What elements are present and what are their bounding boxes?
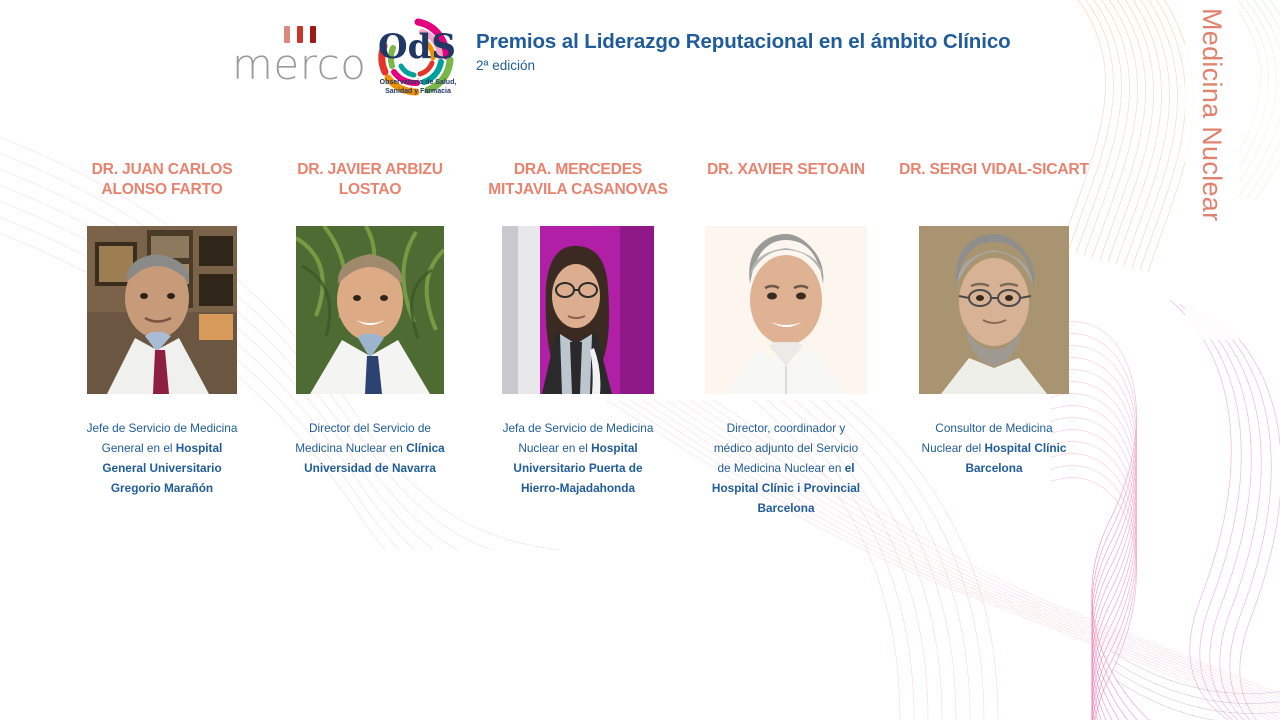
awardees-row: DR. JUAN CARLOS ALONSO FARTO (58, 160, 1098, 518)
awardee-name: DRA. MERCEDES MITJAVILA CASANOVAS (474, 160, 682, 206)
section-label: Medicina Nuclear (1188, 8, 1236, 328)
awardee-photo (296, 226, 444, 394)
awardee-name: DR. SERGI VIDAL-SICART (890, 160, 1098, 206)
awardee-role: Director del Servicio de Medicina Nuclea… (294, 418, 446, 478)
awardee-photo (502, 226, 654, 394)
awardee-card: DR. JUAN CARLOS ALONSO FARTO (58, 160, 266, 498)
merco-logo: merco (232, 26, 358, 84)
awardee-role: Jefe de Servicio de Medicina General en … (86, 418, 238, 498)
awardee-card: DR. JAVIER ARBIZU LOSTAO (266, 160, 474, 478)
awardee-role: Jefa de Servicio de Medicina Nuclear en … (502, 418, 654, 498)
awardee-role: Consultor de Medicina Nuclear del Hospit… (918, 418, 1070, 478)
page-subtitle: 2ª edición (476, 58, 1011, 73)
awardee-name: DR. JUAN CARLOS ALONSO FARTO (58, 160, 266, 206)
awardee-photo (705, 226, 867, 394)
awardee-card: DR. XAVIER SETOAIN Di (682, 160, 890, 518)
page-title: Premios al Liderazgo Reputacional en el … (476, 30, 1011, 54)
slide-header: merco OdS Observatorio de Salud, Sanidad… (0, 0, 1160, 110)
svg-text:OdS: OdS (378, 27, 456, 67)
awardee-role: Director, coordinador y médico adjunto d… (710, 418, 862, 518)
role-plain: Director, coordinador y médico adjunto d… (714, 421, 858, 475)
awardee-card: DRA. MERCEDES MITJAVILA CASANOVAS (474, 160, 682, 498)
ods-tagline: Observatorio de Salud, Sanidad y Farmaci… (366, 78, 470, 96)
merco-wordmark: merco (232, 40, 366, 89)
slide-canvas: merco OdS Observatorio de Salud, Sanidad… (0, 0, 1280, 720)
awardee-name: DR. XAVIER SETOAIN (682, 160, 890, 206)
awardee-card: DR. SERGI VIDAL-SICART (890, 160, 1098, 478)
awardee-name: DR. JAVIER ARBIZU LOSTAO (266, 160, 474, 206)
awardee-photo (87, 226, 237, 394)
title-block: Premios al Liderazgo Reputacional en el … (476, 30, 1011, 73)
awardee-photo (919, 226, 1069, 394)
